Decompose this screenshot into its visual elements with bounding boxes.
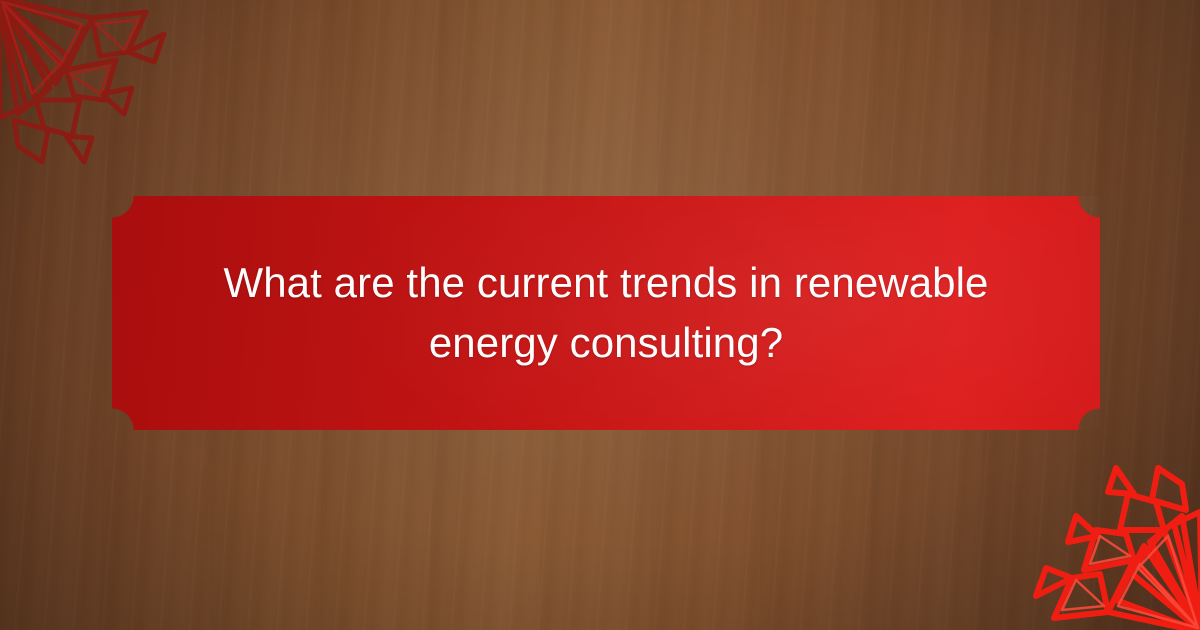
bottom-right-corner-ornament [974,404,1200,630]
headline-banner: What are the current trends in renewable… [112,196,1100,430]
poster-canvas: What are the current trends in renewable… [0,0,1200,630]
top-left-corner-ornament [0,0,226,226]
headline-text: What are the current trends in renewable… [112,196,1100,430]
